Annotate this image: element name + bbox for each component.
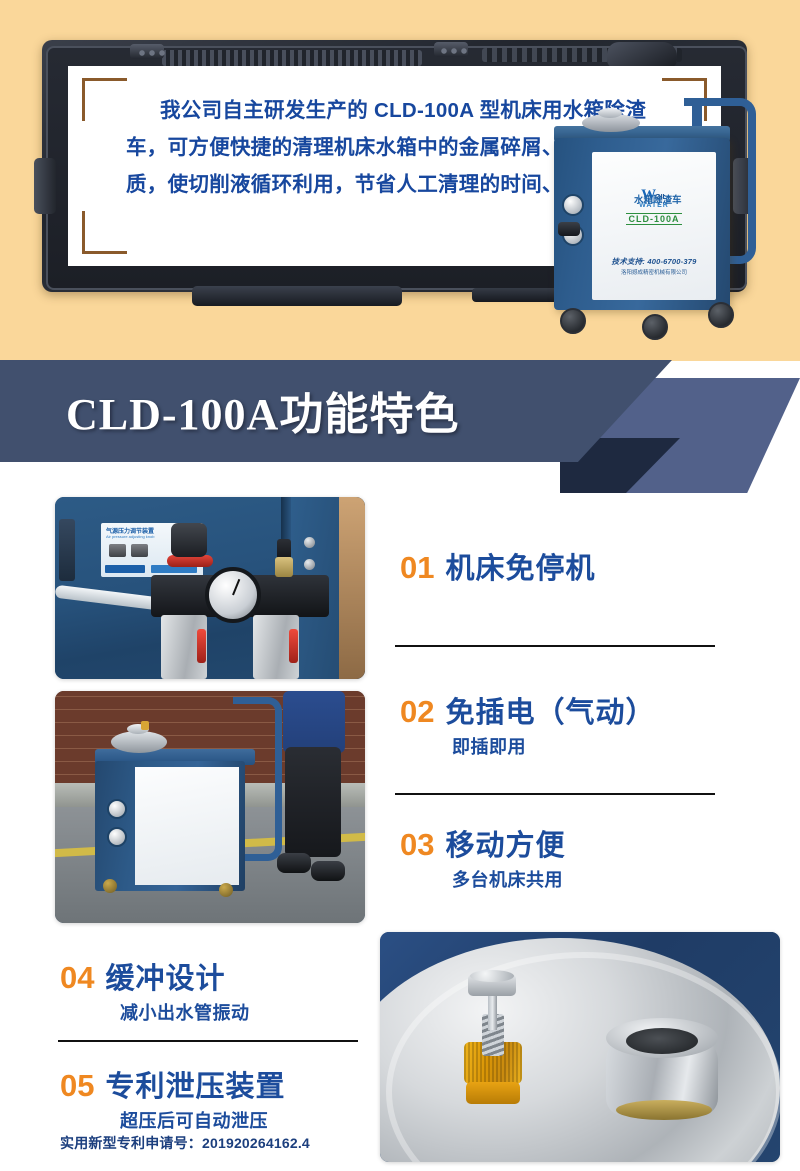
machine2-name-plate bbox=[135, 767, 239, 885]
feature-number: 01 bbox=[400, 550, 434, 586]
photo-machine-in-workshop bbox=[55, 691, 365, 923]
machine-caster-right bbox=[708, 302, 734, 328]
frame-ridges-left bbox=[162, 50, 422, 66]
feature-item-5: 05专利泄压装置 超压后可自动泄压 bbox=[60, 1063, 286, 1133]
camlock-coupler-bore bbox=[626, 1028, 698, 1054]
machine-product-name: 水箱除渣车 bbox=[634, 192, 682, 206]
machine-model: CLD-100A bbox=[626, 213, 681, 225]
regulator-drain-left bbox=[197, 629, 206, 663]
panel-corner-top-left bbox=[82, 78, 127, 121]
regulator-adjust-knob bbox=[171, 523, 207, 557]
regulator-bolt-1 bbox=[304, 537, 315, 548]
worker-jacket bbox=[283, 691, 345, 753]
sticker-subtitle: Air pressure adjusting knob bbox=[106, 534, 154, 539]
feature-item-2: 02免插电（气动） 即插即用 bbox=[400, 689, 656, 759]
worker-trousers bbox=[285, 747, 341, 857]
photo-relief-valve-closeup bbox=[380, 932, 780, 1162]
frame-pod bbox=[607, 42, 677, 68]
feature-number: 02 bbox=[400, 694, 434, 730]
patent-number: 实用新型专利申请号：201920264162.4 bbox=[60, 1133, 310, 1153]
regulator-small-brass bbox=[275, 557, 293, 577]
photo-air-regulator: 气源压力调节装置 Air pressure adjusting knob bbox=[55, 497, 365, 679]
worker-figure bbox=[271, 691, 347, 905]
pressure-gauge bbox=[205, 567, 261, 623]
machine-support-tel: 技术支持: 400-6700-379 bbox=[592, 256, 716, 267]
machine2-relief-valve bbox=[141, 721, 149, 730]
machine-caster-mid bbox=[642, 314, 668, 340]
feature-title: 机床免停机 bbox=[445, 545, 595, 587]
feature-subtitle: 超压后可自动泄压 bbox=[120, 1107, 286, 1133]
feature-item-1: 01机床免停机 bbox=[400, 545, 596, 587]
feature-title: 专利泄压装置 bbox=[105, 1063, 285, 1105]
worker-shoe-left bbox=[277, 853, 311, 873]
worker-shoe-right bbox=[311, 861, 345, 881]
sticker-icon-1 bbox=[109, 544, 126, 557]
feature-divider-1 bbox=[395, 645, 715, 647]
feature-title: 缓冲设计 bbox=[105, 955, 225, 997]
feature-number: 05 bbox=[60, 1068, 94, 1104]
machine-caster-left bbox=[560, 308, 586, 334]
frame-dots-1 bbox=[138, 50, 168, 57]
camlock-gasket bbox=[616, 1100, 712, 1120]
frame-side-tab-left bbox=[34, 158, 56, 214]
hero-section: 我公司自主研发生产的 CLD-100A 型机床用水箱除渣车，可方便快捷的清理机床… bbox=[0, 0, 800, 361]
machine-model-wrap: CLD-100A bbox=[592, 214, 716, 224]
machine-knob bbox=[558, 222, 580, 236]
regulator-left-bracket bbox=[59, 519, 75, 581]
machine-gauge-upper bbox=[562, 194, 584, 216]
gauge-needle bbox=[232, 579, 240, 596]
regulator-bolt-2 bbox=[304, 559, 315, 570]
relief-valve-stem bbox=[488, 990, 497, 1030]
feature-number: 03 bbox=[400, 827, 434, 863]
machine2-gauge-lower bbox=[107, 827, 127, 847]
feature-divider-2 bbox=[395, 793, 715, 795]
machine2-gauge-upper bbox=[107, 799, 127, 819]
feature-divider-3 bbox=[58, 1040, 358, 1042]
machine-drum-cap bbox=[598, 108, 622, 118]
relief-valve-base bbox=[466, 1082, 520, 1104]
feature-item-3: 03移动方便 多台机床共用 bbox=[400, 822, 566, 892]
section-title: CLD-100A功能特色 bbox=[66, 378, 459, 442]
sticker-icon-2 bbox=[131, 544, 148, 557]
machine2-drum-lid bbox=[111, 731, 167, 753]
hero-product-photo: WOIL WATER 水箱除渣车 CLD-100A 技术支持: 400-6700… bbox=[548, 96, 764, 346]
regulator-wood-edge bbox=[339, 497, 365, 679]
machine2-caster-left bbox=[103, 879, 117, 893]
relief-valve-thumbscrew-top bbox=[470, 970, 514, 982]
feature-subtitle: 即插即用 bbox=[452, 733, 656, 759]
feature-title: 移动方便 bbox=[445, 822, 565, 864]
feature-subtitle: 减小出水管振动 bbox=[120, 999, 250, 1025]
frame-dots-2 bbox=[440, 48, 470, 55]
machine-name-plate: WOIL WATER 水箱除渣车 CLD-100A 技术支持: 400-6700… bbox=[592, 152, 716, 300]
feature-title: 免插电（气动） bbox=[445, 689, 655, 731]
feature-item-4: 04缓冲设计 减小出水管振动 bbox=[60, 955, 250, 1025]
feature-subtitle: 多台机床共用 bbox=[452, 866, 566, 892]
feature-number: 04 bbox=[60, 960, 94, 996]
frame-bottom-plate bbox=[192, 286, 402, 306]
regulator-drain-right bbox=[289, 629, 298, 663]
section-banner: CLD-100A功能特色 bbox=[0, 360, 800, 495]
machine-company-name: 洛阳撼成精密机械有限公司 bbox=[592, 268, 716, 276]
machine2-caster-right bbox=[219, 883, 233, 897]
sticker-note-left bbox=[105, 565, 145, 573]
panel-corner-bottom-left bbox=[82, 211, 127, 254]
